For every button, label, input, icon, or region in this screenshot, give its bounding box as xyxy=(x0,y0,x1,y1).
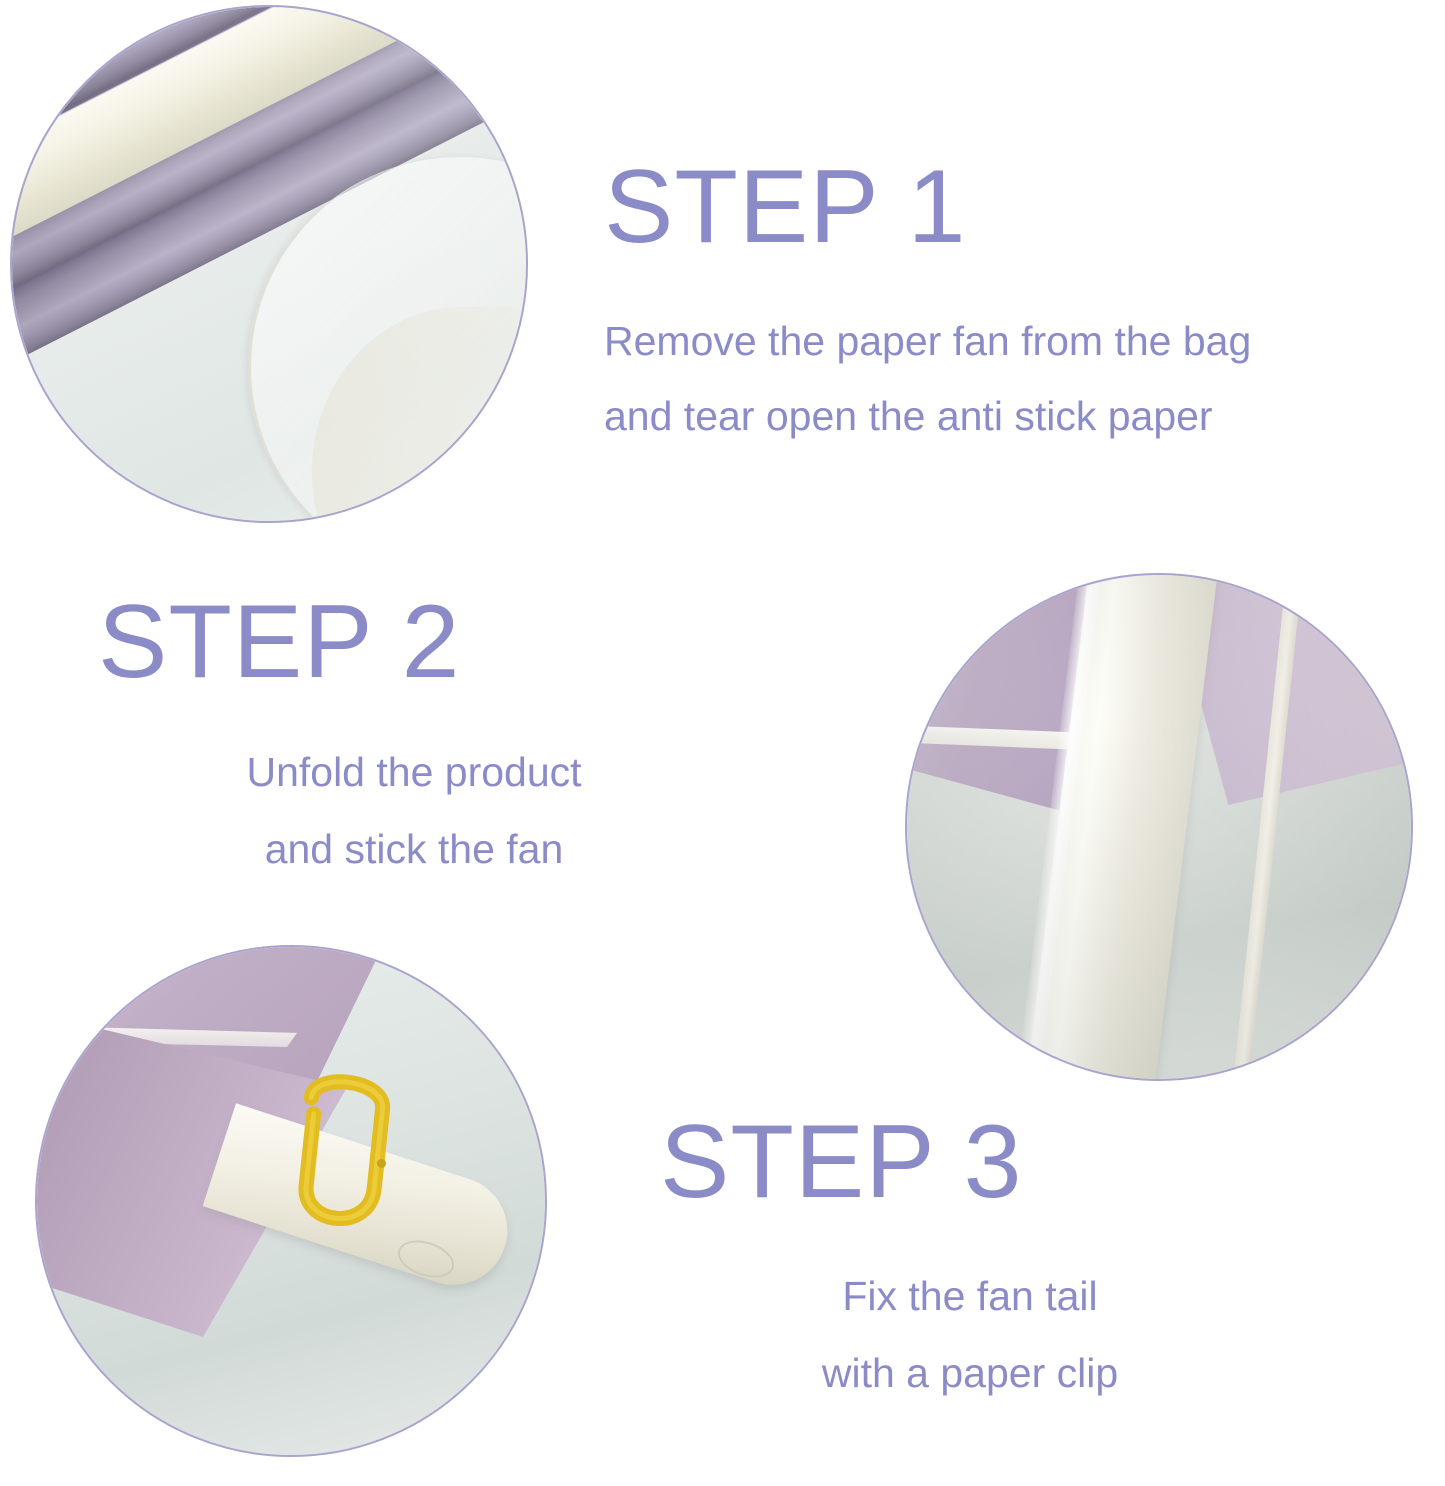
paper-clip-end-dot xyxy=(377,1159,386,1168)
step-2-caption: Unfold the product and stick the fan xyxy=(98,752,730,870)
step-1-photo-inner xyxy=(12,7,526,521)
step-3-photo-inner xyxy=(37,947,545,1455)
step-2-title: STEP 2 xyxy=(98,590,798,694)
step-1-caption-line-2: and tear open the anti stick paper xyxy=(604,396,1251,437)
paper-clip-icon xyxy=(265,1059,416,1262)
step-1-caption: Remove the paper fan from the bag and te… xyxy=(604,321,1251,437)
step-2-caption-line-2: and stick the fan xyxy=(98,829,730,870)
step-3-photo-circle xyxy=(35,945,547,1457)
step-2-text-block: STEP 2 Unfold the product and stick the … xyxy=(98,590,798,870)
step-1-caption-line-1: Remove the paper fan from the bag xyxy=(604,321,1251,362)
step-2-photo-circle xyxy=(905,573,1413,1081)
step-1-photo-circle xyxy=(10,5,528,523)
step-1-title: STEP 1 xyxy=(604,155,1251,259)
step-2-caption-line-1: Unfold the product xyxy=(98,752,730,793)
step-3-caption: Fix the fan tail with a paper clip xyxy=(660,1276,1280,1394)
step-2-photo-inner xyxy=(907,575,1411,1079)
step-1-text-block: STEP 1 Remove the paper fan from the bag… xyxy=(604,155,1251,437)
step-3-caption-line-1: Fix the fan tail xyxy=(660,1276,1280,1317)
step-3-text-block: STEP 3 Fix the fan tail with a paper cli… xyxy=(660,1110,1320,1394)
unfold-photo-shading xyxy=(907,575,1411,1079)
step-3-title: STEP 3 xyxy=(660,1110,1320,1214)
step-3-caption-line-2: with a paper clip xyxy=(660,1353,1280,1394)
instruction-infographic: STEP 1 Remove the paper fan from the bag… xyxy=(0,0,1445,1486)
